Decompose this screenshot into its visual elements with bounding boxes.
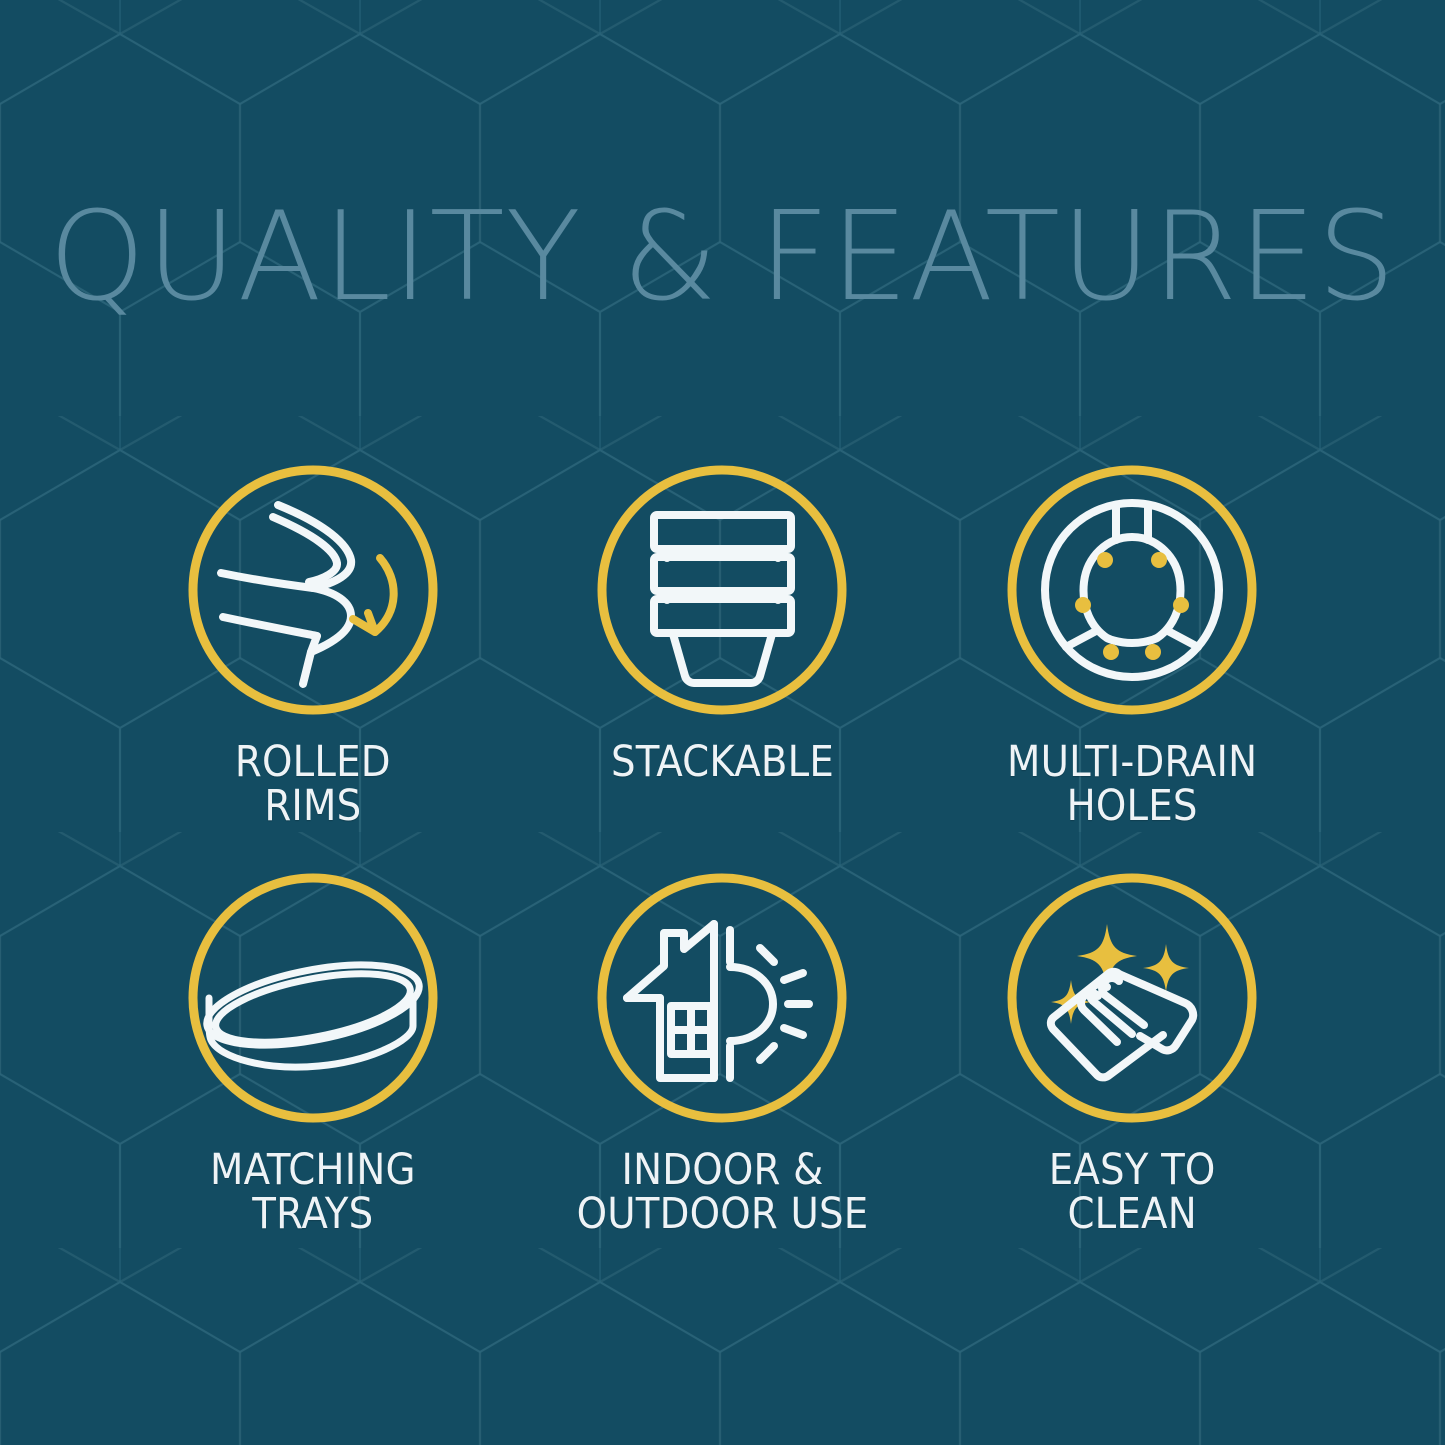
feature-label: MATCHING TRAYS: [210, 1148, 416, 1237]
feature-item-matching-trays: MATCHING TRAYS: [108, 870, 518, 1270]
feature-item-multi-drain-holes: MULTI-DRAIN HOLES: [927, 462, 1337, 862]
house-sun-icon: [594, 870, 850, 1126]
feature-label: EASY TO CLEAN: [1049, 1148, 1216, 1237]
saucer-tray-icon: [185, 870, 441, 1126]
feature-item-stackable: STACKABLE: [518, 462, 928, 862]
drain-holes-icon: [1004, 462, 1260, 718]
page-title: QUALITY & FEATURES: [0, 196, 1445, 319]
feature-label: INDOOR & OUTDOOR USE: [577, 1148, 869, 1237]
feature-label: STACKABLE: [611, 740, 834, 784]
feature-item-rolled-rims: ROLLED RIMS: [108, 462, 518, 862]
feature-grid: ROLLED RIMS STACKABLE: [108, 462, 1337, 1270]
feature-label: MULTI-DRAIN HOLES: [1007, 740, 1257, 829]
rolled-rim-icon: [185, 462, 441, 718]
hand-wipe-sparkle-icon: [1004, 870, 1260, 1126]
feature-item-indoor-outdoor: INDOOR & OUTDOOR USE: [518, 870, 928, 1270]
feature-item-easy-to-clean: EASY TO CLEAN: [927, 870, 1337, 1270]
stacked-pots-icon: [594, 462, 850, 718]
feature-label: ROLLED RIMS: [235, 740, 391, 829]
feature-infographic: QUALITY & FEATURES: [0, 0, 1445, 1445]
